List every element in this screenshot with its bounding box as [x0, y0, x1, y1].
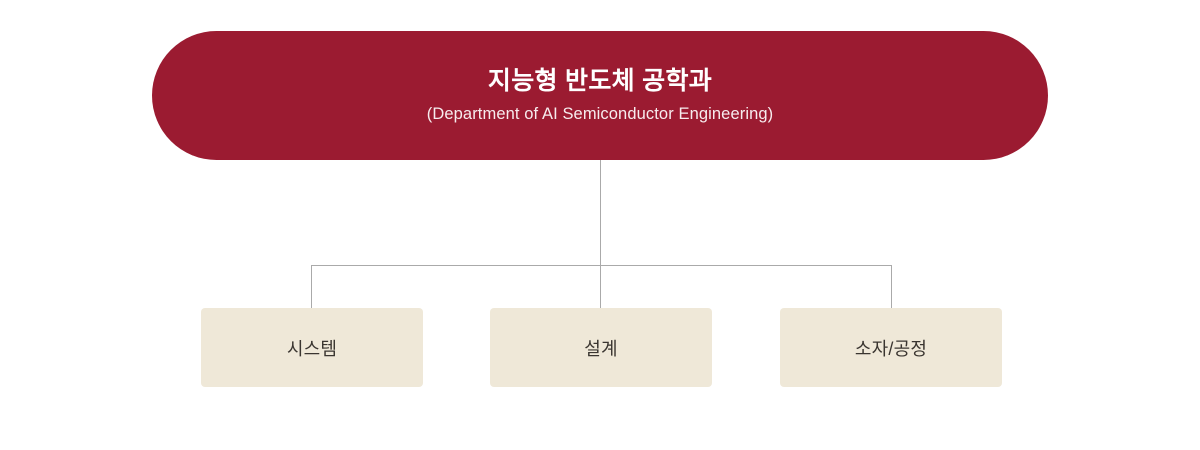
child-node-design[interactable]: 설계: [490, 308, 712, 387]
root-node-subtitle: (Department of AI Semiconductor Engineer…: [427, 104, 774, 125]
child-node-system[interactable]: 시스템: [201, 308, 423, 387]
child-node-label: 시스템: [287, 335, 337, 361]
child-node-label: 설계: [584, 335, 618, 361]
org-chart: 지능형 반도체 공학과 (Department of AI Semiconduc…: [0, 0, 1200, 450]
child-node-device-process[interactable]: 소자/공정: [780, 308, 1002, 387]
connector-drop-system: [311, 265, 312, 308]
root-node-department[interactable]: 지능형 반도체 공학과 (Department of AI Semiconduc…: [152, 31, 1048, 160]
child-node-label: 소자/공정: [855, 335, 927, 361]
connector-stem-vertical: [600, 160, 601, 265]
connector-drop-design: [600, 265, 601, 308]
connector-drop-device-process: [891, 265, 892, 308]
connector-horizontal-bar: [311, 265, 891, 266]
root-node-title: 지능형 반도체 공학과: [488, 66, 712, 97]
